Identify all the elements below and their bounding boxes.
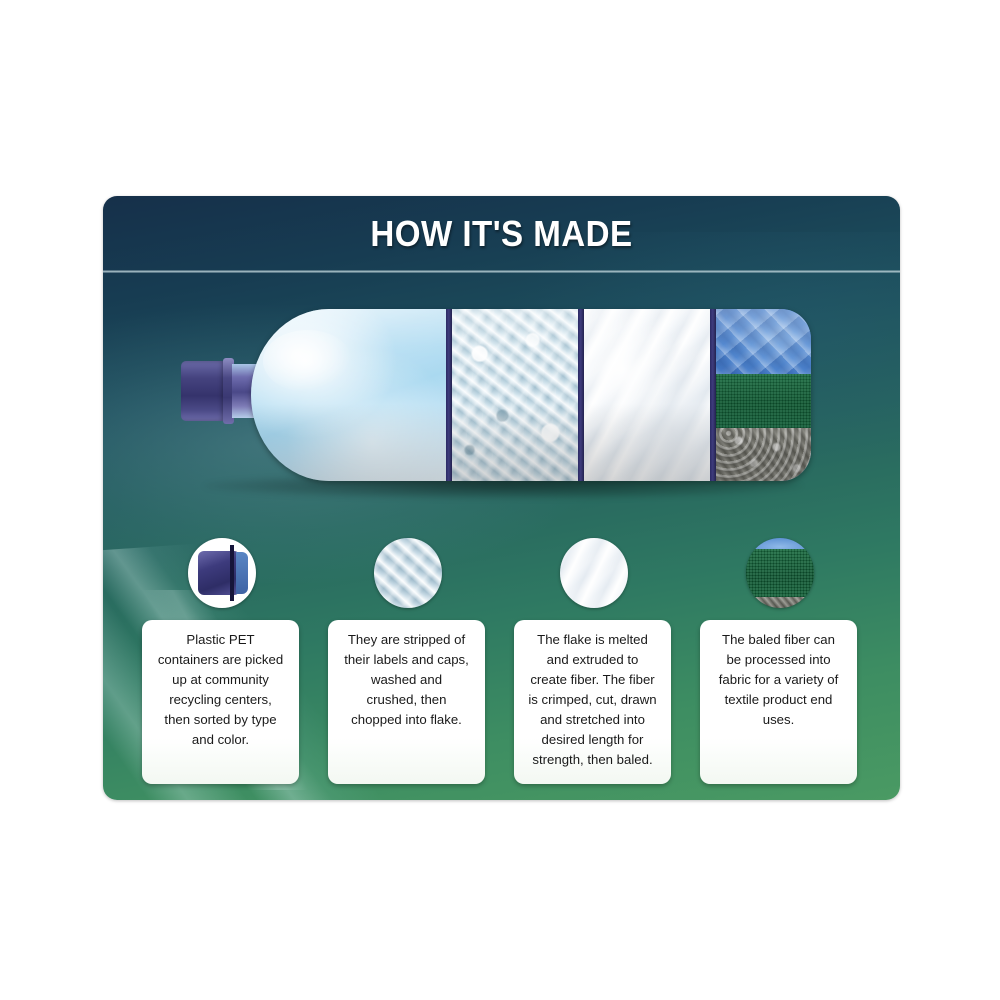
strip-divider-1 [446, 309, 452, 481]
header-divider [103, 270, 900, 273]
cap-seam-line [230, 545, 234, 601]
fabric-band-quilted-blue [716, 309, 811, 374]
step-card-text: The baled fiber can be processed into fa… [709, 630, 848, 730]
page-title: HOW IT'S MADE [135, 213, 868, 255]
step-card-text: The flake is melted and extruded to crea… [523, 630, 662, 770]
step-card: The flake is melted and extruded to crea… [514, 620, 671, 784]
process-strip [181, 301, 821, 491]
bottle-cap-icon [181, 361, 225, 421]
fabric-thumb-bottom-band [746, 597, 814, 608]
screenshot-canvas: HOW IT'S MADE [0, 0, 1000, 1000]
step-card: Plastic PET containers are picked up at … [142, 620, 299, 784]
fabric-band-gray-pebble [716, 428, 811, 481]
bottle-cap-thumbnail [188, 538, 256, 608]
fiber-thumbnail [560, 538, 628, 608]
bottle-body [251, 309, 811, 481]
panel-header: HOW IT'S MADE [103, 196, 900, 271]
step-card-text: They are stripped of their labels and ca… [337, 630, 476, 730]
strip-divider-2 [578, 309, 584, 481]
strip-segment-fiber [584, 309, 710, 481]
fabric-band-green-knit [716, 374, 811, 427]
strip-segment-fabric [716, 309, 811, 481]
fabric-thumb-green-band [746, 549, 814, 597]
strip-divider-3 [710, 309, 716, 481]
cap-edge [236, 552, 248, 594]
flake-thumbnail [374, 538, 442, 608]
infographic-panel: HOW IT'S MADE [103, 196, 900, 800]
step-card: They are stripped of their labels and ca… [328, 620, 485, 784]
fabric-thumb-top-band [746, 538, 814, 549]
step-card-text: Plastic PET containers are picked up at … [151, 630, 290, 750]
fabric-thumbnail [746, 538, 814, 608]
step-card: The baled fiber can be processed into fa… [700, 620, 857, 784]
strip-segment-flake [452, 309, 578, 481]
strip-segment-bottle [251, 309, 446, 481]
